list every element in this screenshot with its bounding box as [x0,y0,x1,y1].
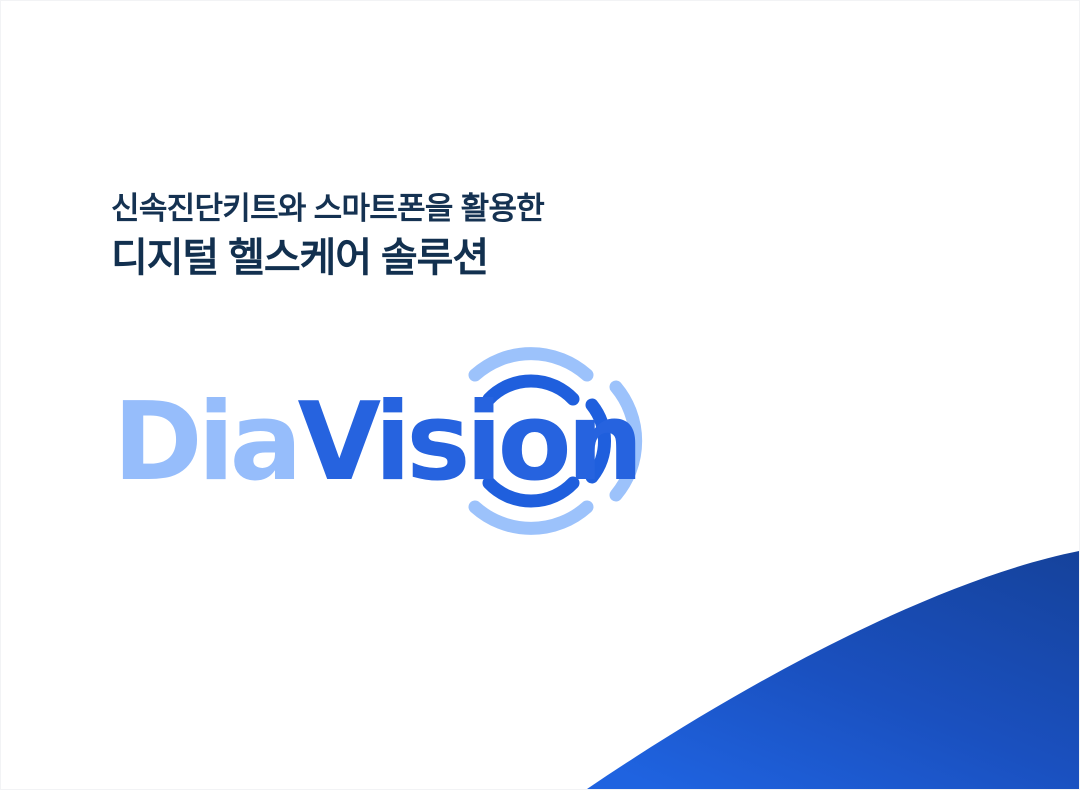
wave-shape-dark [587,551,1079,789]
title-block: 신속진단키트와 스마트폰을 활용한 디지털 헬스케어 솔루션 [111,190,811,282]
corner-wave-decoration [559,539,1079,789]
title-slide: 신속진단키트와 스마트폰을 활용한 디지털 헬스케어 솔루션 DiaVision [0,0,1080,790]
wave-shape-bright [809,631,1079,789]
heading-line-2: 디지털 헬스케어 솔루션 [111,234,811,282]
logo-wordmark: DiaVision [113,380,639,505]
diavision-logo: DiaVision [113,331,653,551]
logo-text-dia: Dia [113,380,298,505]
logo-text-vision: Vision [298,380,639,505]
heading-line-1: 신속진단키트와 스마트폰을 활용한 [111,190,811,228]
